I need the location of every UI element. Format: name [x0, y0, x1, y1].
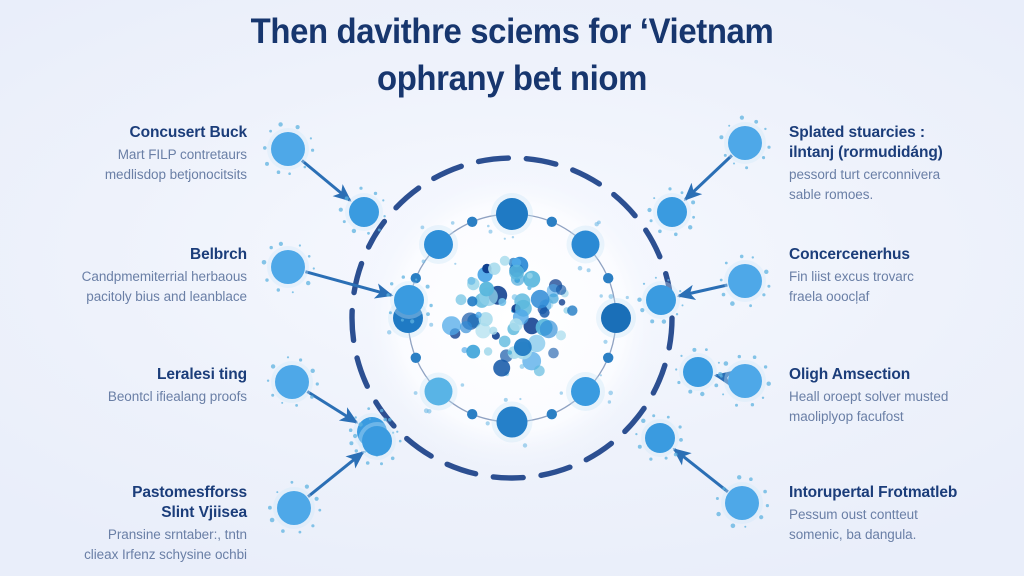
satellite-node-speck [388, 418, 392, 422]
satellite-node-speck [386, 293, 389, 296]
satellite-node-speck [745, 166, 748, 169]
core-cluster-dot [531, 290, 550, 309]
core-cluster-dot [527, 286, 531, 290]
core-cluster-dot [466, 345, 480, 359]
satellite-node [728, 126, 762, 160]
satellite-node-speck [380, 409, 383, 412]
left-item-2-body-1: Candpmemiterrial herbaous [0, 267, 247, 287]
core-cluster-dot [460, 321, 472, 333]
infographic-canvas: Then davithre sciems for ʻVietnam ophran… [0, 0, 1024, 576]
satellite-arrow [308, 452, 363, 496]
satellite-node-speck [692, 216, 695, 219]
satellite-node-speck [714, 384, 718, 388]
satellite-node-speck [265, 162, 269, 166]
ring-node-speck [608, 391, 613, 396]
satellite-node-speck [753, 355, 757, 359]
satellite-node-speck [390, 282, 393, 285]
right-item-1-body-2: sable romoes. [789, 185, 1024, 205]
satellite-node-speck [725, 262, 728, 265]
satellite-node-speck [762, 397, 764, 399]
satellite-node-speck [754, 120, 758, 124]
core-cluster-dot [548, 293, 558, 303]
ring-node-speck [597, 221, 601, 225]
satellite-node-speck [720, 279, 723, 282]
satellite-arrow [302, 161, 350, 201]
satellite-node-speck [762, 156, 765, 159]
right-item-3[interactable]: Oligh Amsection Heall oroept solver must… [777, 365, 1024, 426]
satellite-node-speck [343, 220, 346, 223]
satellite-node-speck [718, 362, 720, 364]
ring-node [424, 230, 453, 259]
satellite-node-speck [675, 368, 677, 370]
satellite-node-speck [281, 529, 285, 533]
core-cluster-dot [500, 256, 510, 266]
ring-node-speck [600, 294, 603, 297]
ring-node [496, 198, 528, 230]
satellite-node-speck [396, 431, 398, 433]
title-line-1: Then davithre sciems for ʻVietnam [31, 8, 994, 55]
core-cluster-dot [567, 305, 577, 315]
left-item-1[interactable]: Concusert Buck Mart FILP contretaurs med… [0, 123, 265, 184]
satellite-node-speck [679, 438, 683, 442]
right-item-2-title: Concercenerhus [789, 245, 1024, 265]
left-item-1-body-1: Mart FILP contretaurs [0, 145, 247, 165]
satellite-arrow [307, 392, 356, 423]
satellite-node-speck [738, 355, 741, 358]
satellite-node-speck [277, 170, 281, 174]
satellite-node-speck [269, 130, 272, 133]
satellite-arrow [674, 449, 728, 492]
core-cluster-dot [489, 327, 497, 335]
satellite-node-speck [311, 149, 314, 152]
right-item-3-title: Oligh Amsection [789, 365, 1024, 385]
ring-node-speck [512, 236, 514, 238]
satellite-node-speck [674, 233, 678, 237]
ring-node-speck [608, 400, 611, 403]
satellite-node-speck [359, 187, 362, 190]
right-item-4-title: Intorupertal Frotmatleb [789, 483, 1024, 503]
satellite-node-speck [731, 524, 736, 529]
satellite-node-speck [389, 311, 392, 314]
satellite-node-speck [722, 293, 726, 297]
ring-node-speck [486, 421, 490, 425]
ring-node-speck [523, 443, 527, 447]
satellite-node-speck [658, 230, 662, 234]
satellite-node-speck [401, 319, 404, 322]
satellite-node-speck [655, 277, 657, 279]
satellite-node-speck [737, 475, 741, 479]
satellite-node-speck [318, 509, 321, 512]
left-item-4-body-2: clieax Irfenz schysine ochbi [0, 545, 247, 565]
right-item-4-body-2: somenic, ba dangula. [789, 525, 1024, 545]
left-item-2[interactable]: Belbrch Candpmemiterrial herbaous pacito… [0, 245, 265, 306]
satellite-node [271, 132, 305, 166]
satellite-node-speck [295, 404, 298, 407]
left-item-3-title: Leralesi ting [0, 365, 247, 385]
satellite-node-speck [415, 279, 417, 281]
satellite-node-speck [278, 122, 282, 126]
satellite-node-speck [733, 163, 735, 165]
satellite-node [683, 357, 713, 387]
satellite-node-speck [724, 154, 727, 157]
satellite-node-speck [724, 361, 729, 366]
left-item-4[interactable]: Pastomesfforss Slint Vjiisea Pransine sr… [0, 483, 265, 564]
satellite-node-speck [735, 404, 738, 407]
satellite-node-speck [270, 518, 275, 523]
core-cluster-dot [484, 347, 492, 355]
right-item-2-body-1: Fin liist excus trovarc [789, 267, 1024, 287]
inner-ring-midpoint-node [603, 353, 613, 363]
satellite-node-speck [352, 229, 356, 233]
satellite-node-speck [426, 312, 430, 316]
satellite-node [725, 486, 759, 520]
satellite-node-speck [662, 319, 666, 323]
satellite-node-speck [306, 281, 310, 285]
satellite-node-speck [429, 304, 432, 307]
satellite-node-speck [339, 208, 343, 212]
page-title: Then davithre sciems for ʻVietnam ophran… [0, 8, 1024, 102]
satellite-node-speck [271, 394, 274, 397]
satellite-node-speck [402, 275, 405, 278]
satellite-node [277, 491, 311, 525]
satellite-node-speck [315, 497, 319, 501]
satellite-node-speck [310, 137, 312, 139]
satellite-node-speck [276, 491, 278, 493]
inner-ring-midpoint-node [467, 217, 477, 227]
satellite-node-speck [382, 199, 384, 201]
satellite-node-speck [311, 369, 315, 373]
right-item-2[interactable]: Concercenerhus Fin liist excus trovarc f… [777, 245, 1024, 306]
satellite-node-speck [383, 418, 387, 422]
satellite-node-speck [649, 458, 652, 461]
ring-node-speck [487, 225, 490, 228]
ring-node-speck [578, 266, 583, 271]
satellite-node-speck [740, 255, 744, 259]
satellite-node-speck [766, 504, 769, 507]
satellite-node [657, 197, 687, 227]
satellite-node [271, 250, 305, 284]
satellite-node-speck [292, 291, 294, 293]
ring-node-speck [600, 374, 602, 376]
core-cluster-dot [442, 316, 461, 335]
satellite-node-speck [277, 288, 280, 291]
satellite-node-speck [426, 285, 430, 289]
core-cluster-dot [510, 318, 523, 331]
ring-node [425, 378, 453, 406]
core-cluster-dot [534, 365, 545, 376]
satellite-node-speck [410, 319, 414, 323]
left-item-3[interactable]: Leralesi ting Beontcl ifiealang proofs [0, 365, 265, 407]
satellite-node [728, 264, 762, 298]
satellite-node-speck [650, 319, 654, 323]
satellite-node-speck [679, 425, 682, 428]
satellite-node-speck [759, 515, 763, 519]
core-cluster-dot [509, 265, 524, 280]
right-item-3-body-1: Heall oroept solver musted [789, 387, 1024, 407]
core-cluster-dot [488, 263, 500, 275]
ring-node-speck [427, 409, 432, 414]
satellite-node-speck [650, 219, 653, 222]
title-line-2: ophrany bet niom [31, 55, 994, 102]
satellite-node-speck [767, 285, 770, 288]
satellite-node-speck [635, 433, 637, 435]
satellite-node-speck [271, 364, 275, 368]
left-item-1-body-2: medlisdop betjonocitsits [0, 165, 247, 185]
satellite-node-speck [740, 116, 744, 120]
satellite-node-speck [677, 381, 680, 384]
ring-node-speck [414, 391, 418, 395]
satellite-node-speck [380, 462, 383, 465]
right-item-1-title-2: ilntanj (rormudidáng) [789, 143, 1024, 163]
core-cluster-dot [508, 350, 512, 354]
satellite-node-speck [265, 278, 268, 281]
ring-node-speck [454, 263, 456, 265]
left-item-1-title: Concusert Buck [0, 123, 247, 143]
satellite-node-speck [305, 485, 309, 489]
satellite-node [362, 426, 392, 456]
satellite-node-speck [692, 348, 696, 352]
satellite-node-speck [705, 348, 708, 351]
satellite-node-speck [383, 215, 385, 217]
satellite-node-speck [667, 279, 669, 281]
core-cluster-dot [556, 285, 566, 295]
satellite-node-speck [374, 192, 377, 195]
satellite-node-speck [355, 416, 357, 418]
satellite-node-speck [716, 512, 720, 516]
satellite-node-speck [764, 128, 766, 130]
satellite-node-speck [367, 407, 370, 410]
satellite-node-speck [299, 358, 302, 361]
ring-node-speck [451, 221, 455, 225]
core-cluster-dot [467, 296, 477, 306]
core-cluster-dot [556, 330, 566, 340]
right-item-1[interactable]: Splated stuarcies : ilntanj (rormudidáng… [777, 123, 1024, 204]
core-cluster-dot [456, 294, 467, 305]
satellite-arrow [685, 155, 732, 199]
satellite-node-speck [744, 526, 746, 528]
satellite-node-speck [378, 229, 381, 232]
ring-node [571, 377, 600, 406]
satellite-node-speck [722, 393, 724, 395]
satellite-node-speck [667, 416, 670, 419]
satellite-node-speck [749, 304, 752, 307]
satellite-node-speck [730, 301, 735, 306]
satellite-node-speck [643, 283, 645, 285]
satellite-node-speck [299, 244, 301, 246]
ring-node-speck [387, 330, 391, 334]
satellite-node-speck [311, 524, 314, 527]
core-cluster-dot [514, 338, 532, 356]
satellite-node-speck [637, 298, 641, 302]
satellite-node-speck [367, 232, 370, 235]
satellite-node-speck [287, 356, 289, 358]
left-item-4-body-1: Pransine srntaber:, tntn [0, 525, 247, 545]
satellite-node-speck [763, 490, 767, 494]
core-cluster-dot [499, 336, 511, 348]
inner-ring-midpoint-node [547, 409, 557, 419]
satellite-node-speck [270, 246, 273, 249]
satellite-node-speck [355, 449, 358, 452]
satellite-node-speck [680, 355, 682, 357]
right-item-2-body-2: fraela ooocļaf [789, 287, 1024, 307]
satellite-node-speck [291, 481, 294, 484]
satellite-node-speck [279, 242, 283, 246]
core-cluster-dot [498, 298, 506, 306]
satellite-node-speck [299, 531, 302, 534]
ring-node-speck [504, 238, 506, 240]
ring-node-speck [421, 226, 425, 230]
ring-node [497, 407, 528, 438]
ring-node-speck [560, 391, 563, 394]
satellite-node-speck [304, 166, 307, 169]
right-item-3-body-2: maoliplyop facufost [789, 407, 1024, 427]
satellite-node-speck [267, 380, 269, 382]
satellite-node-speck [345, 196, 349, 200]
satellite-node-speck [762, 293, 765, 296]
core-cluster-dot [493, 360, 510, 377]
satellite-node-speck [767, 146, 770, 149]
satellite-node-speck [688, 225, 692, 229]
core-cluster-dot [479, 282, 494, 297]
satellite-node-speck [681, 191, 684, 194]
core-cluster-dot [527, 273, 533, 279]
satellite-node-speck [349, 428, 353, 432]
left-item-2-title: Belbrch [0, 245, 247, 265]
ring-node [601, 303, 631, 333]
satellite-node-speck [676, 313, 678, 315]
satellite-node-speck [310, 395, 314, 399]
satellite-node-speck [767, 382, 771, 386]
satellite-node-speck [665, 457, 668, 460]
ring-node-speck [626, 296, 629, 299]
ring-node-speck [519, 398, 521, 400]
core-cluster-dot [476, 312, 482, 318]
satellite-node-speck [369, 418, 371, 420]
core-cluster-dot [559, 299, 566, 306]
satellite-node-speck [652, 414, 655, 417]
satellite-node-speck [722, 487, 725, 490]
satellite-arrow [679, 285, 728, 296]
satellite-node-speck [764, 365, 767, 368]
satellite-node-speck [668, 187, 671, 190]
satellite-node-speck [366, 461, 370, 465]
core-cluster-dot [540, 320, 558, 338]
right-item-1-title: Splated stuarcies : [789, 123, 1024, 143]
satellite-node-speck [752, 256, 754, 258]
left-item-4-title-2: Slint Vjiisea [0, 503, 247, 523]
core-cluster-dot [512, 294, 518, 300]
satellite-node-speck [718, 372, 722, 376]
satellite-node-speck [638, 445, 642, 449]
core-cluster-dot [467, 277, 475, 285]
left-item-2-body-2: pacitoly bius and leanblace [0, 287, 247, 307]
ring-node [572, 231, 600, 259]
inner-ring-midpoint-node [547, 217, 557, 227]
satellite-node-speck [688, 390, 692, 394]
ring-node-speck [609, 294, 614, 299]
satellite-node-speck [640, 308, 644, 312]
left-item-4-title: Pastomesfforss [0, 483, 247, 503]
satellite-node-speck [682, 304, 684, 306]
left-item-3-body-1: Beontcl ifiealang proofs [0, 387, 247, 407]
satellite-node-speck [691, 200, 695, 204]
satellite-node-speck [751, 403, 754, 406]
ring-node-speck [504, 398, 508, 402]
satellite-node-speck [749, 477, 753, 481]
satellite-node [349, 197, 379, 227]
satellite-node-speck [296, 125, 300, 129]
right-item-1-body-1: pessord turt cerconnivera [789, 165, 1024, 185]
inner-ring-midpoint-node [603, 273, 613, 283]
satellite-node-speck [308, 255, 311, 258]
core-cluster-dot [523, 271, 540, 288]
core-cluster-dot [539, 308, 549, 318]
satellite-node-speck [716, 497, 719, 500]
satellite-node-speck [313, 267, 315, 269]
core-cluster-dot [520, 364, 525, 369]
inner-ring-midpoint-node [411, 353, 421, 363]
ring-node-speck [587, 268, 591, 272]
satellite-node [645, 423, 675, 453]
satellite-node-speck [288, 172, 291, 175]
satellite-node-speck [647, 208, 651, 212]
satellite-node-speck [679, 290, 681, 292]
ring-node-speck [461, 383, 465, 387]
satellite-node-speck [719, 135, 723, 139]
right-item-4-body-1: Pessum oust contteut [789, 505, 1024, 525]
ring-node-speck [489, 230, 493, 234]
satellite-node-speck [399, 440, 402, 443]
satellite-node-speck [764, 270, 768, 274]
ring-node-speck [429, 323, 433, 327]
satellite-node-speck [674, 453, 678, 457]
satellite-node [394, 285, 424, 315]
satellite-node-speck [391, 457, 395, 461]
satellite-node-speck [358, 422, 362, 426]
core-cluster-dot [548, 348, 559, 359]
satellite-node-speck [268, 506, 272, 510]
satellite-node-speck [728, 125, 730, 127]
satellite-node-speck [281, 402, 283, 404]
ring-node-speck [422, 260, 426, 264]
inner-ring-midpoint-node [467, 409, 477, 419]
satellite-node-speck [653, 197, 655, 199]
satellite-node [275, 365, 309, 399]
satellite-node [646, 285, 676, 315]
satellite-node-speck [353, 434, 357, 438]
satellite-node-speck [700, 392, 704, 396]
satellite-node-speck [316, 382, 319, 385]
ring-node-speck [603, 340, 607, 344]
satellite-node-speck [349, 441, 353, 445]
satellite-node-speck [641, 419, 645, 423]
satellite-node [728, 364, 762, 398]
right-item-4[interactable]: Intorupertal Frotmatleb Pessum oust cont… [777, 483, 1024, 544]
